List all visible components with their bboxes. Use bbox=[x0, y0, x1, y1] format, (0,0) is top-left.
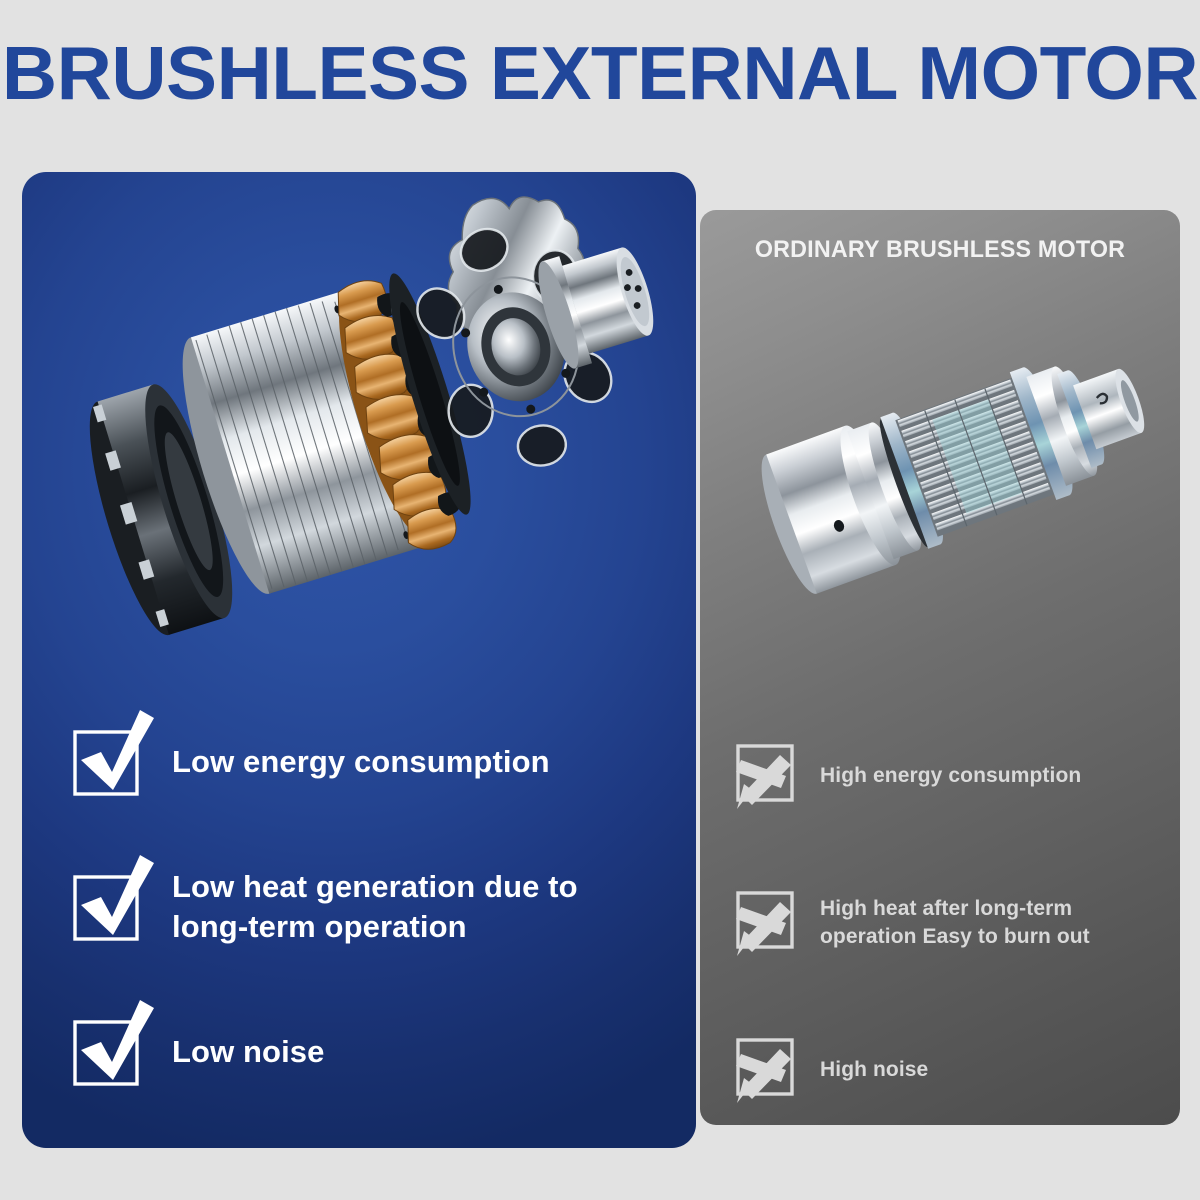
list-item: High energy consumption bbox=[738, 705, 1168, 847]
brushless-motor-panel: Low energy consumption Low heat generati… bbox=[22, 172, 696, 1148]
cross-icon bbox=[738, 747, 796, 805]
cross-icon bbox=[738, 894, 796, 952]
brushless-motor-image bbox=[42, 196, 692, 666]
page-title: BRUSHLESS EXTERNAL MOTOR bbox=[0, 36, 1200, 111]
check-icon bbox=[74, 1020, 138, 1084]
list-item: Low energy consumption bbox=[74, 692, 694, 832]
list-item: Low noise bbox=[74, 982, 694, 1122]
brushless-feature-list: Low energy consumption Low heat generati… bbox=[74, 692, 694, 1122]
list-item: High heat after long-term operation Easy… bbox=[738, 847, 1168, 999]
ordinary-motor-panel: ORDINARY BRUSHLESS MOTOR bbox=[700, 210, 1180, 1125]
list-item-label: High energy consumption bbox=[820, 762, 1081, 790]
ordinary-motor-image bbox=[720, 270, 1160, 670]
ordinary-feature-list: High energy consumption High heat after … bbox=[738, 705, 1168, 1125]
list-item: High noise bbox=[738, 999, 1168, 1125]
list-item-label: Low energy consumption bbox=[172, 742, 550, 782]
list-item-label: High heat after long-term operation Easy… bbox=[820, 895, 1090, 950]
list-item-label: High noise bbox=[820, 1056, 928, 1084]
list-item-label: Low heat generation due to long-term ope… bbox=[172, 867, 578, 946]
list-item: Low heat generation due to long-term ope… bbox=[74, 832, 694, 982]
cross-icon bbox=[738, 1041, 796, 1099]
check-icon bbox=[74, 730, 138, 794]
list-item-label: Low noise bbox=[172, 1032, 324, 1072]
check-icon bbox=[74, 875, 138, 939]
ordinary-panel-heading: ORDINARY BRUSHLESS MOTOR bbox=[707, 236, 1173, 264]
